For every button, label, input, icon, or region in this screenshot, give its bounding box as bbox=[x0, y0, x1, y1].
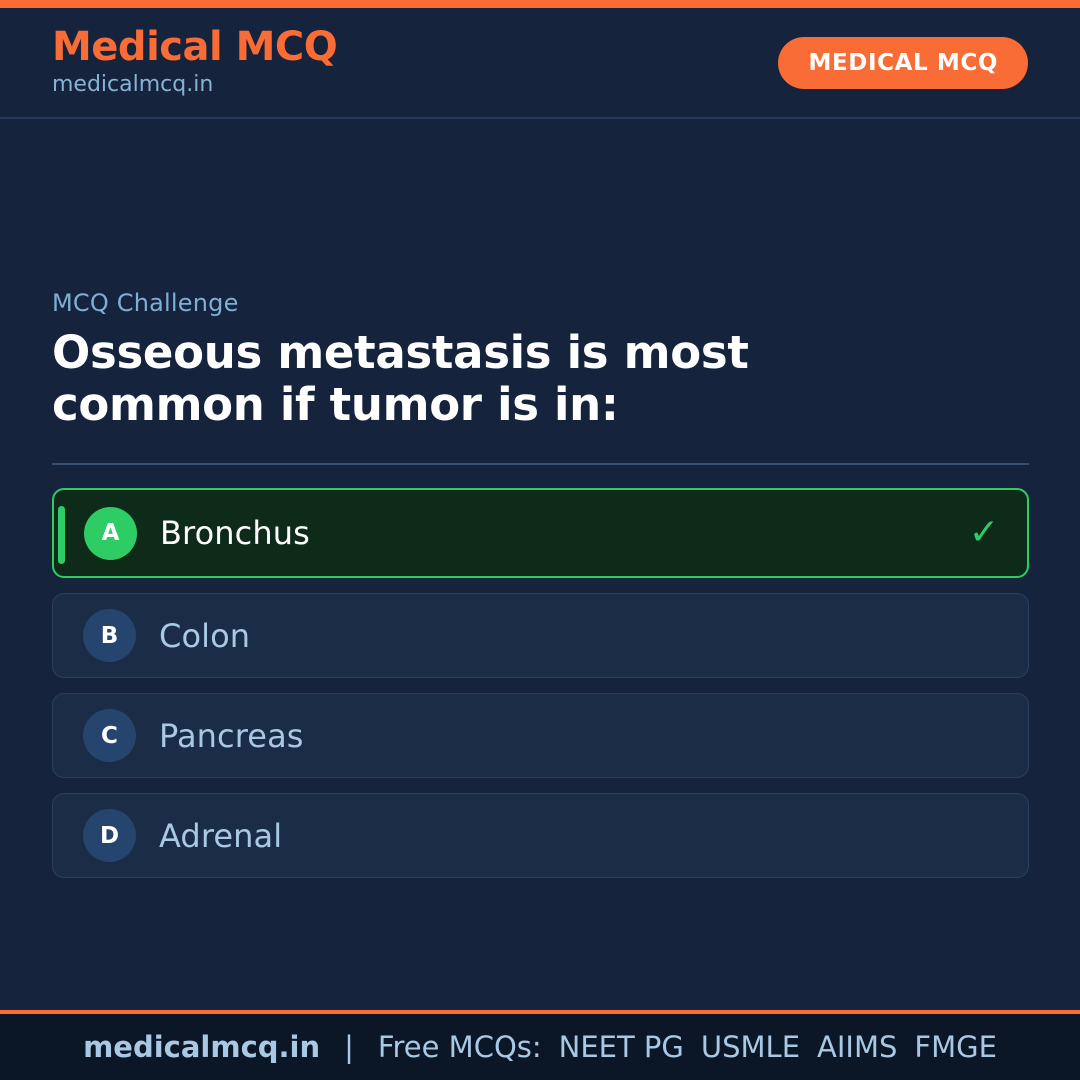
correct-accent-bar bbox=[58, 506, 65, 564]
check-icon: ✓ bbox=[969, 515, 999, 551]
footer-separator: | bbox=[344, 1030, 354, 1064]
option-label: Colon bbox=[159, 617, 250, 655]
option-letter-badge: C bbox=[83, 709, 136, 762]
mcq-card: Medical MCQ medicalmcq.in MEDICAL MCQ MC… bbox=[0, 0, 1080, 1080]
option-label: Pancreas bbox=[159, 717, 304, 755]
option-letter-badge: A bbox=[84, 507, 137, 560]
footer-lead-label: Free MCQs: bbox=[378, 1030, 542, 1064]
footer-site-link[interactable]: medicalmcq.in bbox=[83, 1030, 320, 1064]
footer-inner: medicalmcq.in | Free MCQs: NEET PG USMLE… bbox=[83, 1030, 997, 1064]
top-accent-bar bbox=[0, 0, 1080, 8]
option-label: Adrenal bbox=[159, 817, 282, 855]
main-content: MCQ Challenge Osseous metastasis is most… bbox=[0, 119, 1080, 1010]
page-header: Medical MCQ medicalmcq.in MEDICAL MCQ bbox=[0, 8, 1080, 119]
exam-tag-aiims[interactable]: AIIMS bbox=[817, 1030, 897, 1064]
question-zone: MCQ Challenge Osseous metastasis is most… bbox=[52, 289, 1028, 465]
exam-tag-fmge[interactable]: FMGE bbox=[914, 1030, 997, 1064]
eyebrow-label: MCQ Challenge bbox=[52, 289, 1028, 317]
question-divider bbox=[52, 463, 1029, 465]
options-list: A Bronchus ✓ B Colon C Pancreas D Adrena… bbox=[52, 488, 1029, 878]
option-d[interactable]: D Adrenal bbox=[52, 793, 1029, 878]
option-label: Bronchus bbox=[160, 514, 310, 552]
exam-tag-neet-pg[interactable]: NEET PG bbox=[559, 1030, 684, 1064]
header-badge: MEDICAL MCQ bbox=[778, 37, 1028, 89]
footer-exam-list: Free MCQs: NEET PG USMLE AIIMS FMGE bbox=[378, 1030, 997, 1064]
question-text: Osseous metastasis is most common if tum… bbox=[52, 327, 882, 431]
option-letter-badge: D bbox=[83, 809, 136, 862]
brand-subtitle: medicalmcq.in bbox=[52, 71, 337, 100]
exam-tag-usmle[interactable]: USMLE bbox=[701, 1030, 800, 1064]
brand-block: Medical MCQ medicalmcq.in bbox=[52, 26, 337, 100]
option-letter-badge: B bbox=[83, 609, 136, 662]
brand-title: Medical MCQ bbox=[52, 26, 337, 69]
option-c[interactable]: C Pancreas bbox=[52, 693, 1029, 778]
option-a[interactable]: A Bronchus ✓ bbox=[52, 488, 1029, 578]
page-footer: medicalmcq.in | Free MCQs: NEET PG USMLE… bbox=[0, 1010, 1080, 1080]
option-b[interactable]: B Colon bbox=[52, 593, 1029, 678]
